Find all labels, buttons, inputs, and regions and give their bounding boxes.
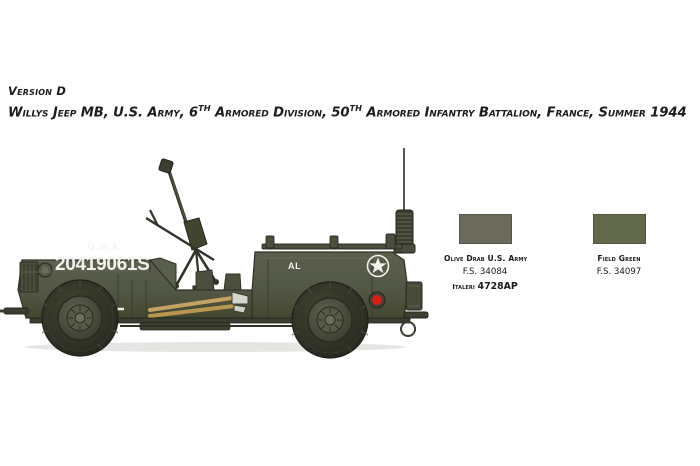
heading-block: Version D Willys Jeep MB, U.S. Army, 6TH… (8, 84, 696, 120)
color-fs-field-green: F.S. 34097 (578, 267, 660, 277)
page-root: Version D Willys Jeep MB, U.S. Army, 6TH… (0, 0, 700, 466)
paint-code-olive: 4728AP (478, 281, 518, 292)
jerry-can (406, 282, 422, 310)
legend-item-field-green: Field Green F.S. 34097 (578, 214, 660, 292)
rear-wheel (292, 282, 368, 358)
rear-rack-rail (262, 234, 402, 252)
tow-hook-icon (401, 322, 415, 336)
axe-head-icon (234, 305, 246, 313)
title-part-3: Armored Infantry Battalion, France, Summ… (362, 105, 687, 120)
jeep-svg: U.S.A. 20419061S AL (0, 140, 470, 370)
version-label: Version D (8, 84, 696, 98)
rear-bumper (404, 312, 428, 318)
color-name-field-green: Field Green (578, 254, 660, 263)
title-part-2: Armored Division, 50 (211, 105, 350, 120)
marking-serial: 20419061S (55, 254, 150, 275)
color-legend: Olive Drab U.S. Army F.S. 34084 Italeri … (444, 214, 696, 292)
page-title: Willys Jeep MB, U.S. Army, 6TH Armored D… (8, 103, 696, 120)
color-swatch-field-green (593, 214, 646, 244)
title-part-1: Willys Jeep MB, U.S. Army, 6 (8, 105, 198, 120)
rear-seat (224, 274, 241, 290)
tail-light-lens (372, 295, 382, 305)
front-seat (196, 270, 214, 290)
marking-bumper-code: AL (288, 261, 301, 271)
marking-usa: U.S.A. (88, 242, 124, 252)
front-wheel (42, 280, 118, 356)
jeep-illustration: U.S.A. 20419061S AL (0, 140, 470, 370)
title-ordinal-1: TH (198, 103, 210, 113)
title-ordinal-2: TH (350, 103, 362, 113)
